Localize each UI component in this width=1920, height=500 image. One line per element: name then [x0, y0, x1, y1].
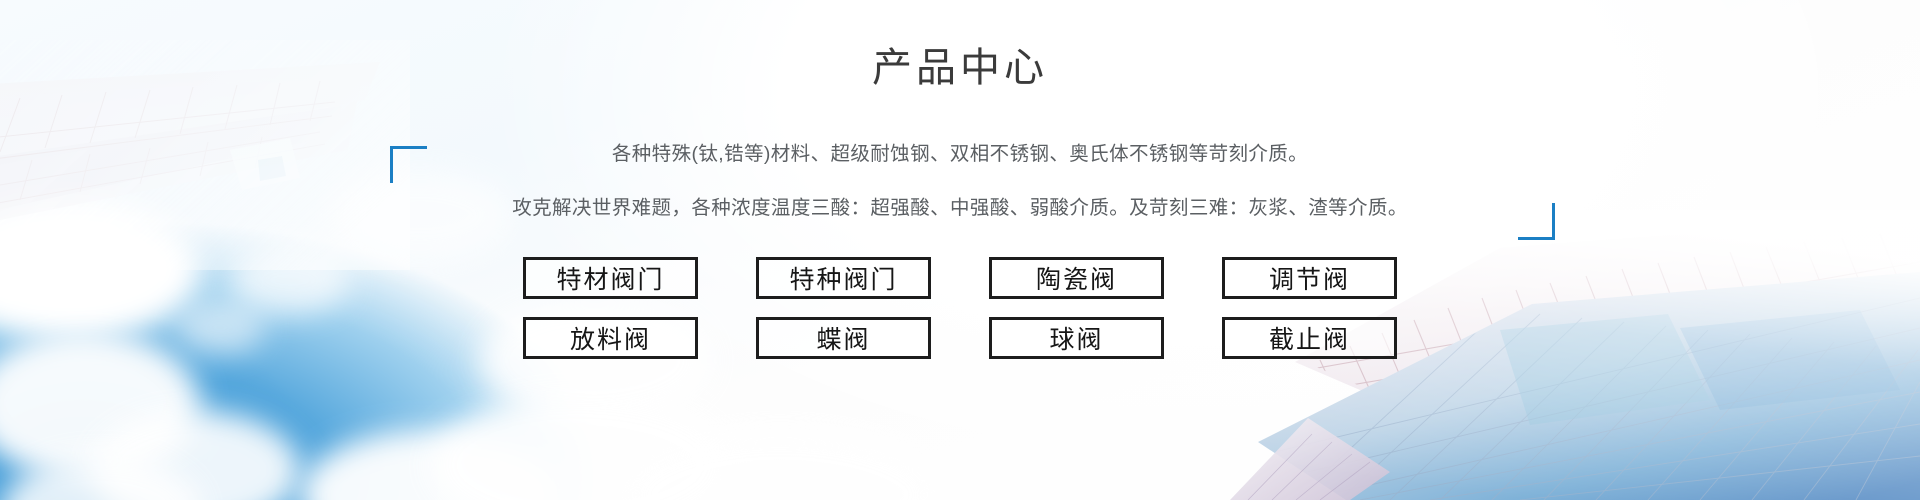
category-chip-tiaojie-fa[interactable]: 调节阀 — [1222, 257, 1397, 299]
page-title: 产品中心 — [872, 46, 1048, 90]
category-chip-tecai-famen[interactable]: 特材阀门 — [523, 257, 698, 299]
description-line-1: 各种特殊(钛,锆等)材料、超级耐蚀钢、双相不锈钢、奥氏体不锈钢等苛刻介质。 — [512, 139, 1408, 169]
banner-description: 各种特殊(钛,锆等)材料、超级耐蚀钢、双相不锈钢、奥氏体不锈钢等苛刻介质。 攻克… — [512, 139, 1408, 223]
category-chip-taoci-fa[interactable]: 陶瓷阀 — [989, 257, 1164, 299]
category-chip-tezhong-famen[interactable]: 特种阀门 — [756, 257, 931, 299]
category-chip-qiu-fa[interactable]: 球阀 — [989, 317, 1164, 359]
category-chip-fangliao-fa[interactable]: 放料阀 — [523, 317, 698, 359]
banner-content: 产品中心 各种特殊(钛,锆等)材料、超级耐蚀钢、双相不锈钢、奥氏体不锈钢等苛刻介… — [0, 0, 1920, 500]
category-chip-jiezhi-fa[interactable]: 截止阀 — [1222, 317, 1397, 359]
product-center-banner: 产品中心 各种特殊(钛,锆等)材料、超级耐蚀钢、双相不锈钢、奥氏体不锈钢等苛刻介… — [0, 0, 1920, 500]
description-line-2: 攻克解决世界难题，各种浓度温度三酸：超强酸、中强酸、弱酸介质。及苛刻三难：灰浆、… — [512, 193, 1408, 223]
category-chip-die-fa[interactable]: 蝶阀 — [756, 317, 931, 359]
category-grid: 特材阀门 特种阀门 陶瓷阀 调节阀 放料阀 蝶阀 球阀 截止阀 — [523, 257, 1397, 359]
